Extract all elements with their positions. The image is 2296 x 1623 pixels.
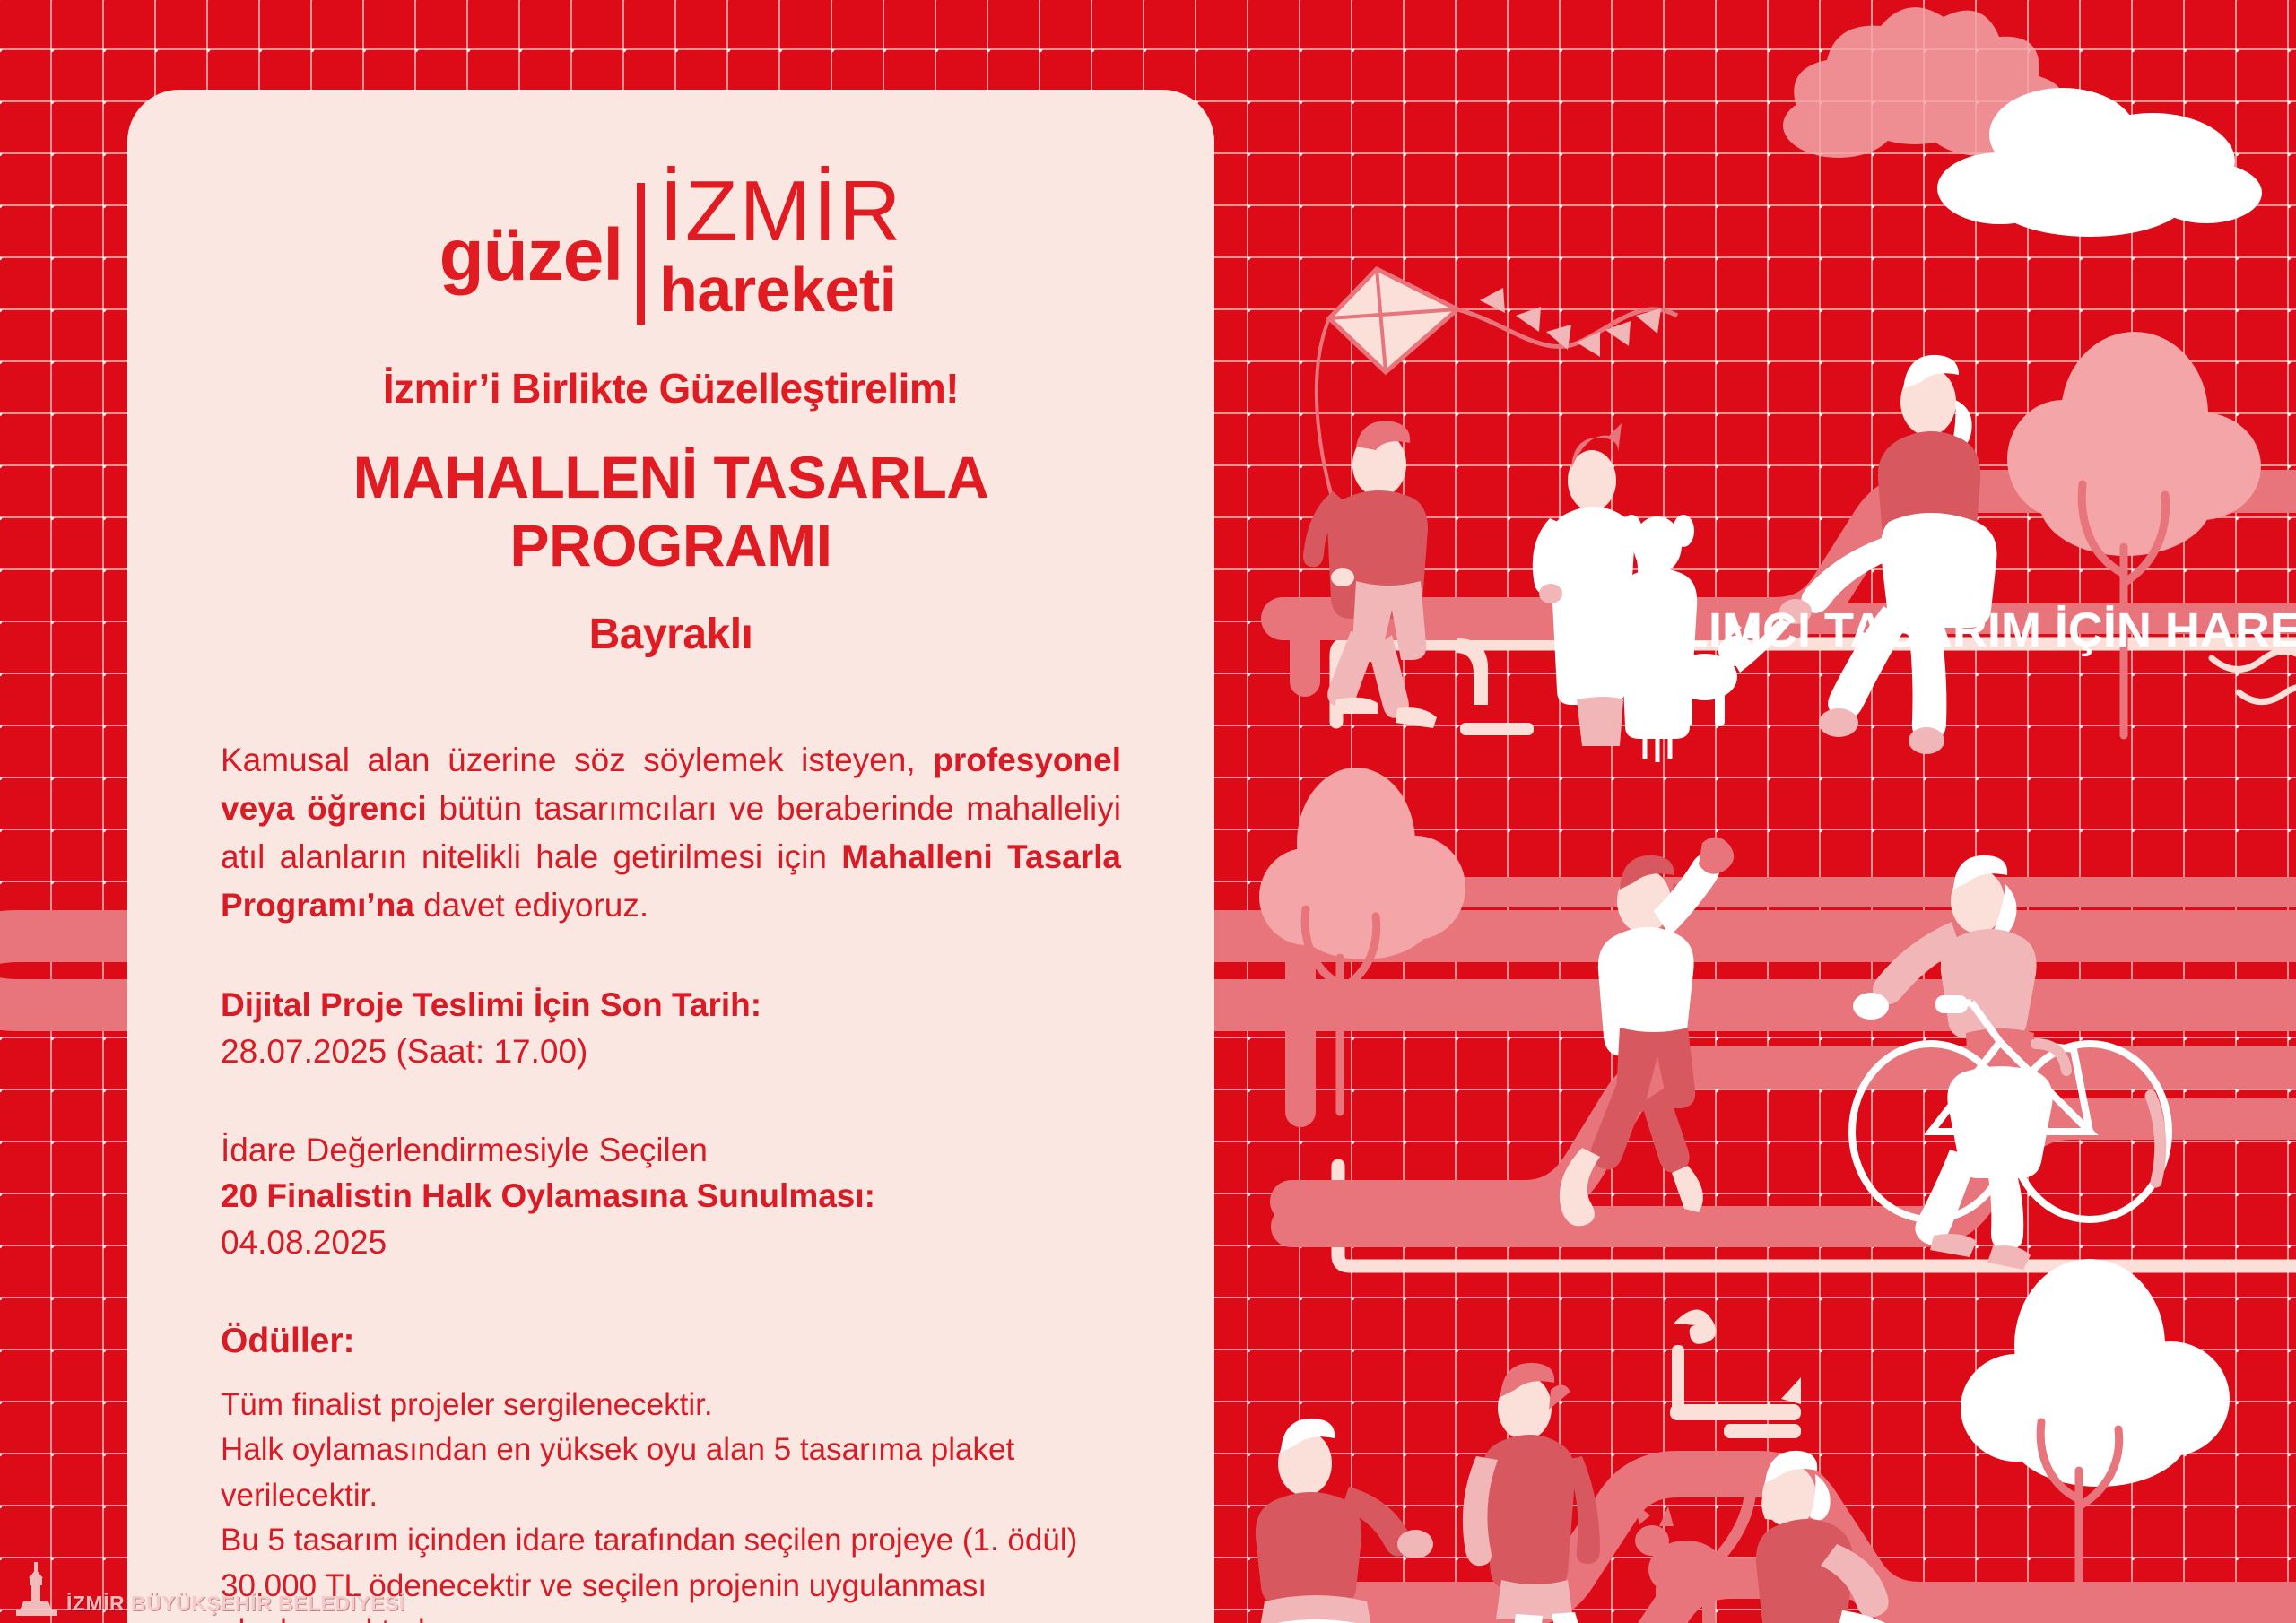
person-walking-icon xyxy=(1463,1363,1600,1623)
cloud-light-icon xyxy=(1783,7,2064,158)
awards-line: Bu 5 tasarım içinden idare tarafından se… xyxy=(221,1518,1121,1563)
seagull-icon xyxy=(2212,651,2296,701)
municipality-name: İZMİR BÜYÜKŞEHİR BELEDİYESİ xyxy=(66,1592,405,1616)
cat-icon xyxy=(1634,1480,1751,1623)
intro-part1: Kamusal alan üzerine söz söylemek isteye… xyxy=(221,742,933,778)
intro-paragraph: Kamusal alan üzerine söz söylemek isteye… xyxy=(221,736,1121,930)
district-name: Bayraklı xyxy=(221,610,1121,659)
kite-icon xyxy=(1317,269,1677,538)
child-running-with-kite-icon xyxy=(1303,421,1437,728)
brand-logo: güzel İZMİR hareketi xyxy=(221,169,1121,328)
awards-line: verilecektir. xyxy=(221,1473,1121,1518)
planter-icon xyxy=(1456,638,1534,735)
awards-line: Tüm finalist projeler sergilenecektir. xyxy=(221,1383,1121,1428)
poster-root: KATILIMCI TASARIM İÇİN HAREKETE GEÇ! güz… xyxy=(0,0,2296,1623)
tree-white-bottom-icon xyxy=(1961,1259,2230,1623)
lamp-post-bench-icon xyxy=(1670,1309,1801,1438)
info-card: güzel İZMİR hareketi İzmir’i Birlikte Gü… xyxy=(127,90,1214,1623)
tree-pink-top-icon xyxy=(2007,332,2261,735)
slogan-text: KATILIMCI TASARIM İÇİN HAREKETE GEÇ! xyxy=(1570,603,2296,658)
page-title: MAHALLENİ TASARLA PROGRAMI xyxy=(221,443,1121,579)
cloud-white-icon xyxy=(1937,88,2262,237)
child-standing-icon xyxy=(1533,423,1662,746)
person-reclining-icon xyxy=(1756,1451,1936,1623)
public-vote-value: 04.08.2025 xyxy=(221,1219,1121,1266)
person-sitting-ground-icon xyxy=(1235,1419,1433,1623)
municipality-logo: İZMİR BÜYÜKŞEHİR BELEDİYESİ xyxy=(13,1560,405,1616)
public-vote-label: 20 Finalistin Halk Oylamasına Sunulması: xyxy=(221,1173,1121,1219)
person-sitting-on-wall-icon xyxy=(1779,355,1997,754)
deadline-block: Dijital Proje Teslimi İçin Son Tarih: 28… xyxy=(221,982,1121,1075)
logo-divider-bar xyxy=(637,183,645,325)
public-vote-block: İdare Değerlendirmesiyle Seçilen 20 Fina… xyxy=(221,1127,1121,1266)
intro-part3: davet ediyoruz. xyxy=(414,887,648,924)
awards-heading: Ödüller: xyxy=(221,1322,1121,1361)
logo-word-hareketi: hareketi xyxy=(659,258,902,321)
logo-word-guzel: güzel xyxy=(439,169,623,292)
deadline-label: Dijital Proje Teslimi İçin Son Tarih: xyxy=(221,982,1121,1028)
tagline: İzmir’i Birlikte Güzelleştirelim! xyxy=(221,364,1121,412)
person-cycling-icon xyxy=(1852,855,2169,1270)
awards-line: Halk oylamasından en yüksek oyu alan 5 t… xyxy=(221,1428,1121,1472)
deadline-value: 28.07.2025 (Saat: 17.00) xyxy=(221,1028,1121,1075)
public-vote-sub: İdare Değerlendirmesiyle Seçilen xyxy=(221,1127,1121,1174)
clock-tower-icon xyxy=(13,1560,61,1616)
tree-pink-left-icon xyxy=(1259,768,1465,1112)
person-running-icon xyxy=(1560,837,1734,1226)
logo-word-izmir: İZMİR xyxy=(659,169,902,255)
